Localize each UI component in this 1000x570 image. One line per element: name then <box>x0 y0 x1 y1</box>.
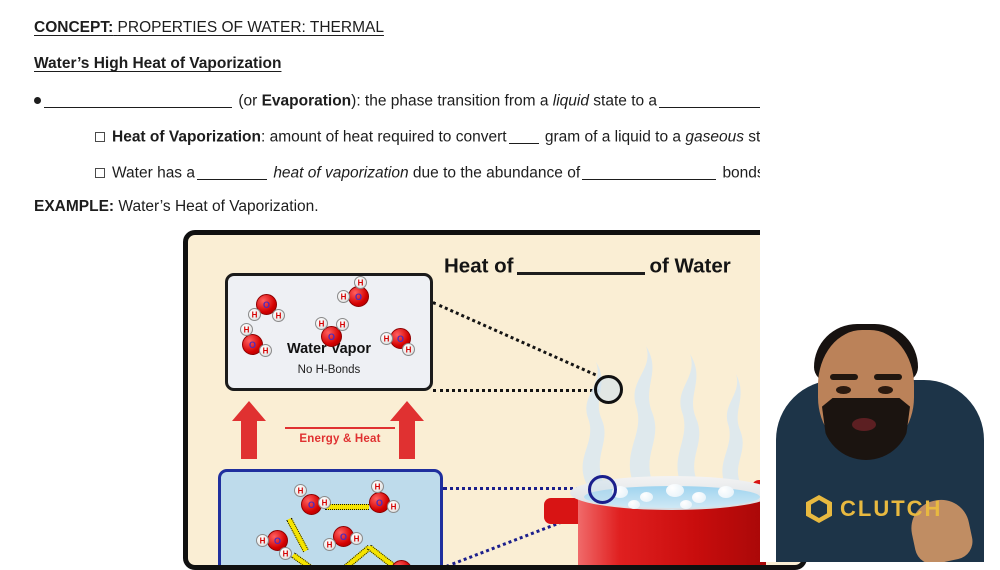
figure-title-pre: Heat of <box>444 254 513 277</box>
blank-one-gram <box>509 128 539 144</box>
bubble-icon <box>640 492 653 502</box>
bubble-icon <box>718 486 734 498</box>
sub-bullet-abundance: Water has a heat of vaporization due to … <box>95 164 769 181</box>
instructor-eyebrow-right <box>874 374 902 380</box>
bullet-italic-liquid: liquid <box>553 93 589 110</box>
sub-text-2a: Water has a <box>112 165 195 182</box>
concept-title: PROPERTIES OF WATER: THERMAL <box>118 19 384 36</box>
hydrogen-atom-icon <box>354 276 367 289</box>
subheading: Water’s High Heat of Vaporization <box>34 56 281 72</box>
bullet-dot-icon <box>34 97 41 104</box>
hydrogen-atom-icon <box>350 532 363 545</box>
sub-bold-term-1: Heat of Vaporization <box>112 129 261 146</box>
hydrogen-bond-icon <box>286 518 308 553</box>
bullet-bold-evaporation: Evaporation <box>262 93 352 110</box>
example-text: Water’s Heat of Vaporization. <box>118 198 318 215</box>
instructor-mouth <box>852 418 876 431</box>
callout-circle-liquid <box>588 475 617 504</box>
concept-heading: CONCEPT: PROPERTIES OF WATER: THERMAL <box>34 20 384 36</box>
oxygen-atom-icon <box>348 286 369 307</box>
figure-panel: Heat ofof Water <box>183 230 807 570</box>
hexagon-logo-icon <box>806 495 832 523</box>
hydrogen-atom-icon <box>371 480 384 493</box>
bubble-icon <box>680 500 692 509</box>
vapor-box-sublabel: No H-Bonds <box>228 364 430 376</box>
hydrogen-atom-icon <box>318 496 331 509</box>
hydrogen-atom-icon <box>380 332 393 345</box>
hydrogen-atom-icon <box>248 308 261 321</box>
hydrogen-atom-icon <box>272 309 285 322</box>
hydrogen-atom-icon <box>387 500 400 513</box>
instructor-eye-right <box>878 386 893 394</box>
energy-arrow-left-icon <box>232 401 266 459</box>
hydrogen-atom-icon <box>294 484 307 497</box>
bubble-icon <box>666 484 684 497</box>
hydrogen-atom-icon <box>337 290 350 303</box>
sub-text-1b: gram of a liquid to a <box>545 129 681 146</box>
instructor-eyebrow-left <box>830 374 858 380</box>
sub-italic-gaseous: gaseous <box>685 129 744 146</box>
bullet-vaporization: (or Evaporation): the phase transition f… <box>34 92 841 109</box>
sub-text-2b: due to the abundance of <box>413 165 580 182</box>
bullet-text-1: (or <box>238 93 257 110</box>
blank-high <box>197 164 267 180</box>
hydrogen-atom-icon <box>323 538 336 551</box>
instructor-eye-left <box>836 386 851 394</box>
blank-hydrogen <box>582 164 716 180</box>
hydrogen-atom-icon <box>315 317 328 330</box>
concept-label: CONCEPT: <box>34 19 113 36</box>
clutch-logo: CLUTCH <box>806 495 942 523</box>
energy-arrow-right-icon <box>390 401 424 459</box>
hydrogen-bond-icon <box>325 504 369 510</box>
square-bullet-icon <box>95 168 105 178</box>
bubble-icon <box>628 500 640 509</box>
blank-figure-title <box>517 253 645 275</box>
blank-term-vaporization <box>44 92 232 108</box>
square-bullet-icon <box>95 132 105 142</box>
water-vapor-box: Water Vapor No H-Bonds <box>225 273 433 391</box>
hydrogen-bond-icon <box>291 553 330 570</box>
energy-heat-label: Energy & Heat <box>280 433 400 445</box>
subheading-text: Water’s High Heat of Vaporization <box>34 55 281 72</box>
example-label: EXAMPLE: <box>34 198 114 215</box>
energy-label-rule <box>285 427 395 429</box>
bubble-icon <box>692 492 706 503</box>
liquid-water-box <box>218 469 443 570</box>
figure-title: Heat ofof Water <box>444 253 731 278</box>
sub-bullet-heat-of-vaporization: Heat of Vaporization: amount of heat req… <box>95 128 786 145</box>
bullet-text-3: state to a <box>593 93 657 110</box>
hydrogen-atom-icon <box>336 318 349 331</box>
hydrogen-atom-icon <box>240 323 253 336</box>
hydrogen-atom-icon <box>279 547 292 560</box>
hydrogen-atom-icon <box>402 343 415 356</box>
instructor-video: CLUTCH <box>760 0 1000 562</box>
bullet-text-2: ): the phase transition from a <box>351 93 548 110</box>
figure-title-post: of Water <box>649 254 730 277</box>
hydrogen-atom-icon <box>259 344 272 357</box>
clutch-brand-text: CLUTCH <box>840 496 942 522</box>
callout-circle-vapor <box>594 375 623 404</box>
hydrogen-bond-icon <box>367 545 401 570</box>
sub-italic-heat-of-vaporization: heat of vaporization <box>273 165 408 182</box>
sub-text-1a: : amount of heat required to convert <box>261 129 507 146</box>
hydrogen-atom-icon <box>256 534 269 547</box>
example-line: EXAMPLE: Water’s Heat of Vaporization. <box>34 199 319 215</box>
